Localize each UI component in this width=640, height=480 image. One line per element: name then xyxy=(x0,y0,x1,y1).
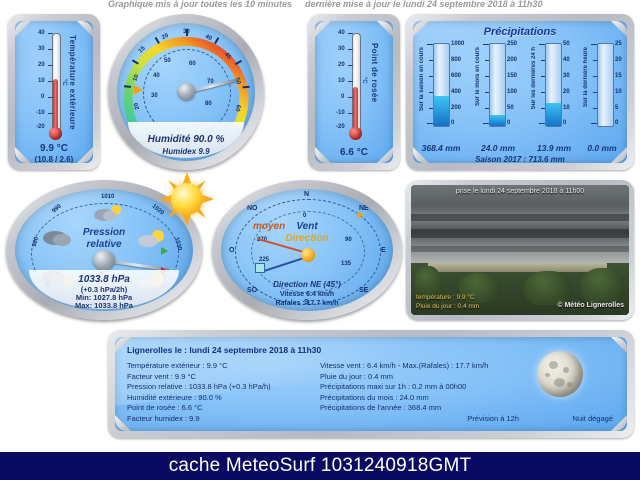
precip-fill xyxy=(434,96,449,126)
precip-gauge-label: Sur le mois en cours xyxy=(475,47,481,106)
precip-fill xyxy=(546,103,561,126)
cloud-band xyxy=(411,246,629,252)
dewpoint-panel: 40 30 20 10 0 -10 -20 Point de rosée °C … xyxy=(308,14,400,170)
dewpoint-face: 40 30 20 10 0 -10 -20 Point de rosée °C … xyxy=(315,21,393,163)
webcam-timestamp: prise le lundi 24 septembre 2018 à 11h00 xyxy=(411,188,629,195)
precipitation-face: Précipitations Sur la saison en cours 10… xyxy=(413,21,627,163)
summary-item: Humidité extérieure : 90.0 % xyxy=(127,393,302,404)
gauge-hub xyxy=(178,83,195,100)
precip-scale-label: 100 xyxy=(507,89,517,95)
scale-tick-label: 20 xyxy=(338,62,345,68)
summary-item: Pression relative : 1033.8 hPa (+0.3 hPa… xyxy=(127,382,302,393)
webcam-sky xyxy=(411,185,629,266)
summary-panel: Lignerolles le : lundi 24 septembre 2018… xyxy=(108,330,634,438)
precipitation-title: Précipitations xyxy=(413,26,627,38)
scale-tick xyxy=(348,97,353,98)
header-strip: Graphique mis à jour toutes les 10 minut… xyxy=(0,0,640,12)
header-note-left: Graphique mis à jour toutes les 10 minut… xyxy=(108,0,292,9)
summary-item: Facteur vent : 9.9 °C xyxy=(127,372,302,383)
scale-tick-label: 30 xyxy=(38,46,45,52)
precip-year-total: Saison 2017 : 713.6 mm xyxy=(413,155,627,163)
outdoor-temperature-label: Température extérieure xyxy=(68,35,77,130)
tree-shape xyxy=(581,268,625,304)
precip-tube xyxy=(597,43,614,127)
summary-item: Précipitations maxi sur 1h : 0.2 mm à 00… xyxy=(320,382,488,393)
webcam-panel: prise le lundi 24 septembre 2018 à 11h00… xyxy=(406,180,634,320)
dewpoint-value: 6.6 °C xyxy=(315,147,393,158)
precip-gauge-label: Sur la saison en cours xyxy=(419,47,425,111)
scale-tick-label: 0 xyxy=(41,94,44,100)
compass-cardinal-e: E xyxy=(381,247,386,254)
thermometer-mercury xyxy=(53,79,58,131)
wind-compass-face: N NE E SE S SO O NO 0 270 225 90 135 Ven… xyxy=(221,189,393,311)
cache-status-bar: cache MeteoSurf 1031240918GMT xyxy=(0,452,640,480)
compass-cardinal-o: O xyxy=(229,247,234,254)
gauge-hub xyxy=(93,250,115,270)
thermometer-graphic: 40 30 20 10 0 -10 -20 Température extéri… xyxy=(15,21,93,163)
precip-scale-label: 10 xyxy=(615,89,622,95)
wind-marker-so xyxy=(255,263,265,273)
precip-scale-label: 0 xyxy=(563,120,566,126)
compass-degree-135: 135 xyxy=(341,261,351,267)
gauge-inner-label: 80 xyxy=(205,101,212,107)
outdoor-temperature-value: 9.9 °C xyxy=(15,143,93,154)
wind-title-2: moyen xyxy=(253,221,285,232)
scale-tick xyxy=(48,81,53,82)
scale-tick-label: -10 xyxy=(336,110,345,116)
forecast-value: Nuit dégagé xyxy=(573,414,613,423)
cloud-band xyxy=(411,229,629,238)
compass-cardinal-no: NO xyxy=(247,205,258,212)
summary-title: Lignerolles le : lundi 24 septembre 2018… xyxy=(127,345,615,355)
precip-value-month: 24.0 mm xyxy=(467,143,529,153)
precip-scale-label: 40 xyxy=(563,57,570,63)
webcam-overlay-rain: Pluie du jour : 0.4 mm xyxy=(416,302,479,311)
outdoor-temperature-face: 40 30 20 10 0 -10 -20 Température extéri… xyxy=(15,21,93,163)
webcam-credit: © Météo Lignerolles xyxy=(557,302,624,309)
precip-gauge-label: Sur la dernière heure xyxy=(583,47,589,107)
wind-compass-gauge: N NE E SE S SO O NO 0 270 225 90 135 Ven… xyxy=(212,180,402,320)
wind-speed: Vitesse 6.4 km/h xyxy=(221,291,393,298)
outdoor-temperature-minmax: (10.8 / 2.6) xyxy=(15,155,93,163)
scale-tick xyxy=(48,113,53,114)
gauge-inner-label: 30 xyxy=(151,93,158,99)
header-note-right: dernière mise à jour le lundi 24 septemb… xyxy=(305,0,542,9)
summary-right-column: Vitesse vent : 6.4 km/h - Max.(Rafales) … xyxy=(320,361,488,424)
precip-scale-label: 0 xyxy=(451,120,454,126)
baro-scale-label: 1010 xyxy=(101,194,114,200)
summary-face: Lignerolles le : lundi 24 septembre 2018… xyxy=(115,337,627,431)
webcam-overlay: température : 9.9 °C Pluie du jour : 0.4… xyxy=(416,293,479,311)
precip-value-season: 368.4 mm xyxy=(413,143,472,153)
precip-scale-label: 20 xyxy=(563,89,570,95)
barometer-title-1: Pression xyxy=(15,227,193,238)
tree-shape xyxy=(524,271,572,305)
precip-scale-label: 800 xyxy=(451,57,461,63)
precipitation-panel: Précipitations Sur la saison en cours 10… xyxy=(406,14,634,170)
precip-fill xyxy=(490,115,505,126)
summary-item: Pluie du jour : 0.4 mm xyxy=(320,372,488,383)
cache-status-text: cache MeteoSurf 1031240918GMT xyxy=(169,455,472,477)
sun-disc xyxy=(171,183,203,215)
scale-tick-label: -20 xyxy=(336,124,345,130)
scale-tick-label: 10 xyxy=(38,78,45,84)
outdoor-temperature-panel: 40 30 20 10 0 -10 -20 Température extéri… xyxy=(8,14,100,170)
barometer-max: Max: 1033.8 hPa xyxy=(15,301,193,310)
scale-tick-label: 40 xyxy=(338,30,345,36)
scale-tick xyxy=(48,97,53,98)
wind-title-1: Vent xyxy=(221,221,393,232)
thermometer-bulb xyxy=(49,127,62,140)
precip-tube xyxy=(545,43,562,127)
precip-tube xyxy=(489,43,506,127)
precip-scale-label: 0 xyxy=(615,120,618,126)
scale-tick xyxy=(348,113,353,114)
sun-icon xyxy=(160,172,214,226)
scale-tick-label: 20 xyxy=(38,62,45,68)
gauge-inner-label: 40 xyxy=(153,73,160,79)
precip-gauge-season: Sur la saison en cours 1000 800 600 400 … xyxy=(419,43,465,139)
precip-scale-label: 0 xyxy=(507,120,510,126)
scale-tick xyxy=(348,33,353,34)
gauge-scale-label: 60 xyxy=(234,104,241,112)
unit-mark: °C xyxy=(61,79,67,86)
humidity-gauge: 15 20 30 40 45 50 60 10 20 50 40 30 60 7… xyxy=(108,14,264,170)
scale-tick-label: 0 xyxy=(341,94,344,100)
summary-item: Température extérieur : 9.9 °C xyxy=(127,361,302,372)
humidex-value: Humidex 9.9 xyxy=(117,147,255,156)
dewpoint-thermometer-graphic: 40 30 20 10 0 -10 -20 Point de rosée °C … xyxy=(315,21,393,163)
village-strip xyxy=(428,263,607,272)
precip-value-hour: 0.0 mm xyxy=(571,143,627,153)
precip-scale-label: 30 xyxy=(563,73,570,79)
cloud-band xyxy=(411,214,629,221)
scale-tick xyxy=(48,65,53,66)
summary-item: Vitesse vent : 6.4 km/h - Max.(Rafales) … xyxy=(320,361,488,372)
compass-cardinal-n: N xyxy=(304,191,309,198)
precip-gauge-label: Sur les dernières 24 h xyxy=(531,47,537,109)
gauge-inner-label: 50 xyxy=(164,58,171,64)
moon-phase-icon xyxy=(537,351,583,397)
cloud-sun-icon xyxy=(93,203,123,228)
webcam-overlay-temp: température : 9.9 °C xyxy=(416,293,479,302)
scale-tick xyxy=(348,49,353,50)
precip-scale-label: 200 xyxy=(451,105,461,111)
summary-content: Lignerolles le : lundi 24 septembre 2018… xyxy=(115,337,627,431)
precip-scale-label: 400 xyxy=(451,89,461,95)
barometer-value: 1033.8 hPa xyxy=(15,274,193,285)
forecast-label: Prévision à 12h xyxy=(467,414,519,423)
summary-left-column: Température extérieur : 9.9 °C Facteur v… xyxy=(127,361,302,424)
summary-item: Précipitations du mois : 24.0 mm xyxy=(320,393,488,404)
precip-gauge-24h: Sur les dernières 24 h 50 40 30 20 10 0 xyxy=(531,43,577,139)
compass-hub xyxy=(301,248,315,262)
humidity-min-marker xyxy=(134,85,143,95)
scale-tick-label: 40 xyxy=(38,30,45,36)
precip-tube xyxy=(433,43,450,127)
thermometer-bulb xyxy=(349,127,362,140)
compass-degree-0: 0 xyxy=(303,213,306,219)
scale-tick-label: -10 xyxy=(36,110,45,116)
summary-item: Facteur humidex : 9.9 xyxy=(127,414,302,425)
precip-scale-label: 15 xyxy=(615,73,622,79)
precip-scale-label: 250 xyxy=(507,41,517,47)
scale-tick xyxy=(48,33,53,34)
dewpoint-label: Point de rosée xyxy=(370,43,379,102)
summary-item: Précipitations de l'année : 368.4 mm xyxy=(320,403,488,414)
humidity-gauge-face: 15 20 30 40 45 50 60 10 20 50 40 30 60 7… xyxy=(117,23,255,161)
humidity-value: Humidité 90.0 % xyxy=(117,134,255,145)
precip-scale-label: 1000 xyxy=(451,41,464,47)
summary-item: Point de rosée : 6.6 °C xyxy=(127,403,302,414)
wind-direction: Direction NE (45°) xyxy=(221,280,393,289)
webcam-image[interactable]: prise le lundi 24 septembre 2018 à 11h00… xyxy=(411,185,629,315)
baro-min-marker xyxy=(161,247,168,255)
precip-gauge-hour: Sur la dernière heure 25 20 15 10 5 0 xyxy=(583,43,627,139)
unit-mark: °C xyxy=(361,77,367,84)
precip-scale-label: 25 xyxy=(615,41,622,47)
precip-scale-label: 50 xyxy=(507,105,514,111)
scale-tick xyxy=(348,65,353,66)
precip-scale-label: 10 xyxy=(563,105,570,111)
scale-tick xyxy=(48,49,53,50)
precip-scale-label: 50 xyxy=(563,41,570,47)
wind-gust: Rafales : 17.7 km/h xyxy=(221,300,393,307)
gauge-scale-label: 30 xyxy=(183,29,190,35)
wind-title-3: Direction xyxy=(221,233,393,244)
wind-marker-ne xyxy=(357,211,364,219)
thermometer-mercury xyxy=(353,87,358,131)
precip-scale-label: 150 xyxy=(507,73,517,79)
precip-scale-label: 600 xyxy=(451,73,461,79)
gauge-inner-label: 60 xyxy=(189,61,196,67)
scale-tick-label: 30 xyxy=(338,46,345,52)
scale-tick xyxy=(348,81,353,82)
scale-tick-label: -20 xyxy=(36,124,45,130)
precip-gauge-month: Sur le mois en cours 250 200 150 100 50 … xyxy=(475,43,521,139)
precip-scale-label: 5 xyxy=(615,105,618,111)
precip-scale-label: 200 xyxy=(507,57,517,63)
scale-tick-label: 10 xyxy=(338,78,345,84)
precip-scale-label: 20 xyxy=(615,57,622,63)
